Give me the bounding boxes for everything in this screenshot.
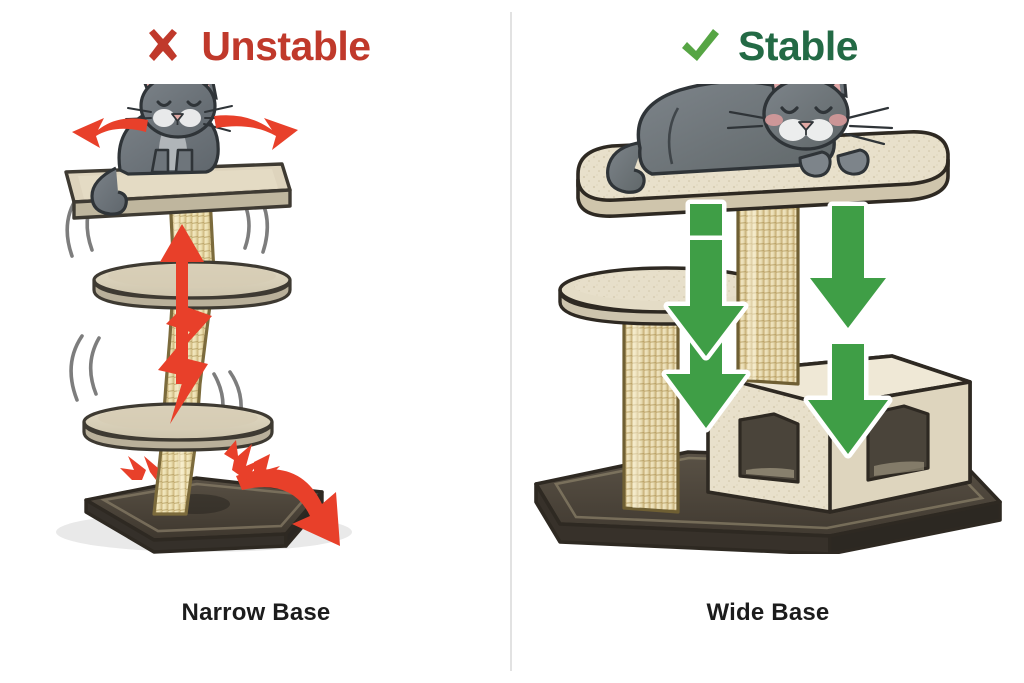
scratching-post-center [738,190,798,384]
unstable-caption: Narrow Base [0,599,512,627]
scratching-post-left [624,308,678,512]
comparison-figure: Unstable [0,0,1024,683]
platform-middle [94,262,290,308]
stable-heading: Stable [512,24,1024,68]
checkmark-icon [678,24,722,68]
unstable-cat-tree-illustration [0,84,512,554]
stable-cat-tree-illustration [512,84,1024,554]
unstable-heading: Unstable [0,24,512,68]
stable-heading-label: Stable [738,26,858,67]
unstable-panel: Unstable [0,0,512,683]
stable-caption: Wide Base [512,599,1024,627]
x-cross-icon [141,24,185,68]
downward-force-arrow-right [808,206,888,454]
unstable-heading-label: Unstable [201,26,370,67]
stable-panel: Stable [512,0,1024,683]
